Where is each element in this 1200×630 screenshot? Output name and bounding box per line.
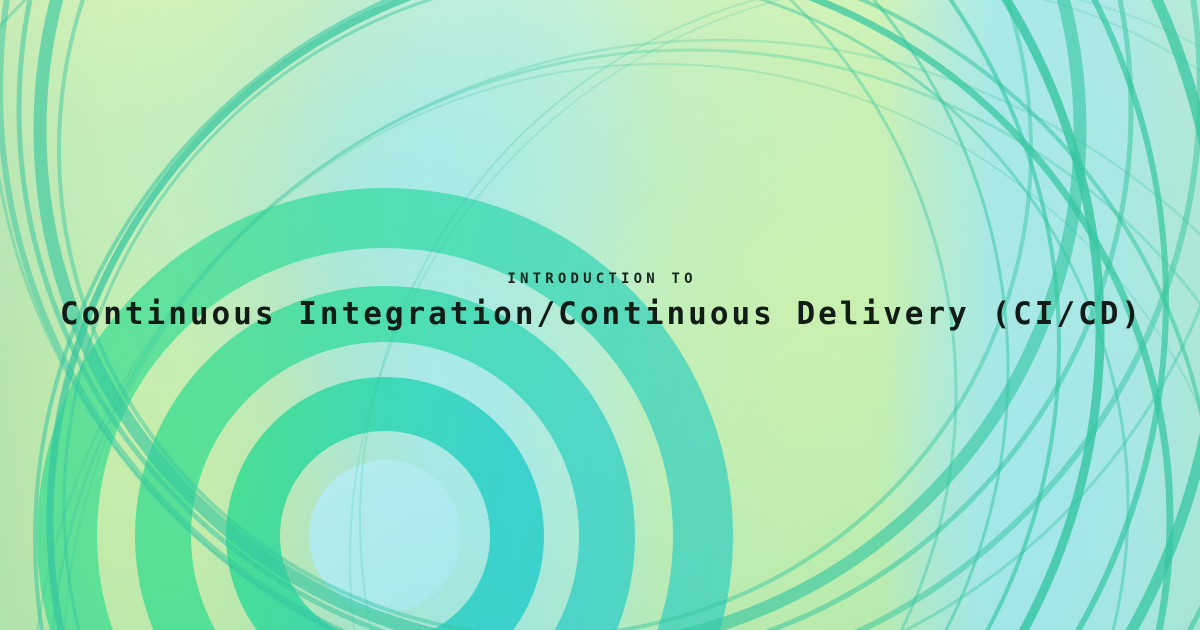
- arc-upper-3: [64, 0, 1128, 630]
- arc-bottom-4: [0, 0, 1200, 630]
- arc-right-7: [0, 0, 956, 630]
- arc-right-5: [0, 0, 1200, 630]
- arc-right-6: [0, 0, 1200, 630]
- slide-canvas: INTRODUCTION TO Continuous Integration/C…: [0, 0, 1200, 630]
- decorative-arcs-svg: [0, 0, 1200, 630]
- arc-upper-2: [35, 0, 1200, 630]
- decorative-arcs-layer: [0, 0, 1200, 630]
- arc-right-4: [0, 0, 1008, 630]
- arc-bottom-5: [0, 0, 1200, 630]
- arc-bottom-2: [19, 0, 1131, 630]
- arc-right-2: [0, 0, 1059, 630]
